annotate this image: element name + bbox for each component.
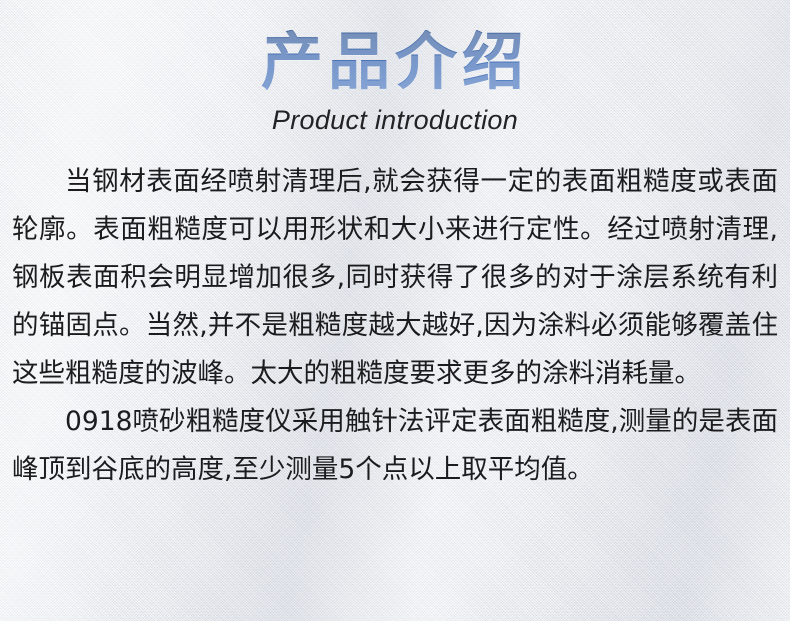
paragraph-2: 0918喷砂粗糙度仪采用触针法评定表面粗糙度,测量的是表面峰顶到谷底的高度,至少… xyxy=(12,398,778,494)
page-title: 产品介绍 xyxy=(0,30,790,93)
heading-block: 产品介绍 Product introduction xyxy=(0,0,790,136)
page-subtitle: Product introduction xyxy=(0,105,790,136)
page-content: 产品介绍 Product introduction 当钢材表面经喷射清理后,就会… xyxy=(0,0,790,640)
product-introduction-page: 产品介绍 Product introduction 当钢材表面经喷射清理后,就会… xyxy=(0,0,790,640)
body-copy: 当钢材表面经喷射清理后,就会获得一定的表面粗糙度或表面轮廓。表面粗糙度可以用形状… xyxy=(12,158,778,494)
paragraph-1: 当钢材表面经喷射清理后,就会获得一定的表面粗糙度或表面轮廓。表面粗糙度可以用形状… xyxy=(12,158,778,398)
